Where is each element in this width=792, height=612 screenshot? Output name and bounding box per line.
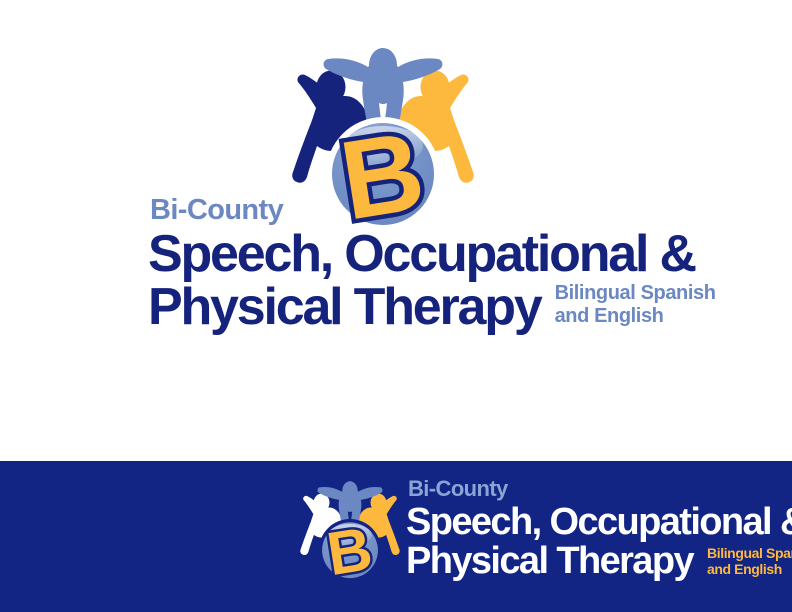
brand-tagline-reversed: Bilingual Spanish and English bbox=[707, 545, 792, 580]
logo-mark-reversed: B bbox=[298, 478, 402, 582]
brand-tagline-line-2-reversed: and English bbox=[707, 561, 792, 577]
brand-title-line-2-reversed: Physical Therapy bbox=[406, 543, 693, 580]
brand-tagline-line-1: Bilingual Spanish bbox=[555, 282, 716, 304]
brand-eyebrow-reversed: Bi-County bbox=[406, 478, 792, 500]
brand-title-line-1: Speech, Occupational & bbox=[148, 229, 768, 280]
wordmark-reversed: Bi-County Speech, Occupational & Physica… bbox=[406, 478, 792, 588]
primary-lockup: B Bi-County Speech, Occupational & Physi… bbox=[0, 0, 792, 461]
brand-tagline-line-2: and English bbox=[555, 305, 716, 327]
brand-tagline: Bilingual Spanish and English bbox=[555, 282, 716, 333]
logo-sheet: B Bi-County Speech, Occupational & Physi… bbox=[0, 0, 792, 612]
figure-center-head-icon bbox=[369, 48, 397, 82]
brand-title-line-2: Physical Therapy bbox=[148, 282, 541, 333]
brand-title-row-reversed: Physical Therapy Bilingual Spanish and E… bbox=[406, 541, 792, 580]
brand-tagline-line-1-reversed: Bilingual Spanish bbox=[707, 545, 792, 561]
three-figures-b-circle-icon-reversed: B bbox=[298, 478, 402, 582]
figure-center-head-icon bbox=[342, 481, 357, 500]
brand-title-row: Physical Therapy Bilingual Spanish and E… bbox=[148, 280, 768, 333]
brand-title-line-1-reversed: Speech, Occupational & bbox=[406, 504, 792, 541]
brand-eyebrow: Bi-County bbox=[148, 196, 768, 225]
wordmark-primary: Bi-County Speech, Occupational & Physica… bbox=[148, 196, 768, 366]
